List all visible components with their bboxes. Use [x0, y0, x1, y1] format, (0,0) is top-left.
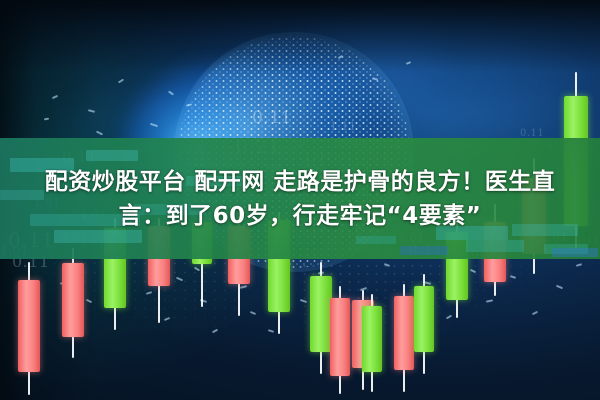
headline-text-block: 配资炒股平台 配开网 走路是护骨的良方！医生直 言：到了60岁，行走牢记“4要素…	[0, 138, 600, 259]
banner-image: 0.110.110.111.011.111.011.011.111.010.11…	[0, 0, 600, 400]
price-ticker: 1.11	[330, 120, 357, 133]
headline-line-1: 配资炒股平台 配开网 走路是护骨的良方！医生直	[45, 167, 556, 197]
headline-line-2: 言：到了60岁，行走牢记“4要素”	[119, 201, 482, 231]
price-ticker: 0.11	[252, 108, 292, 128]
